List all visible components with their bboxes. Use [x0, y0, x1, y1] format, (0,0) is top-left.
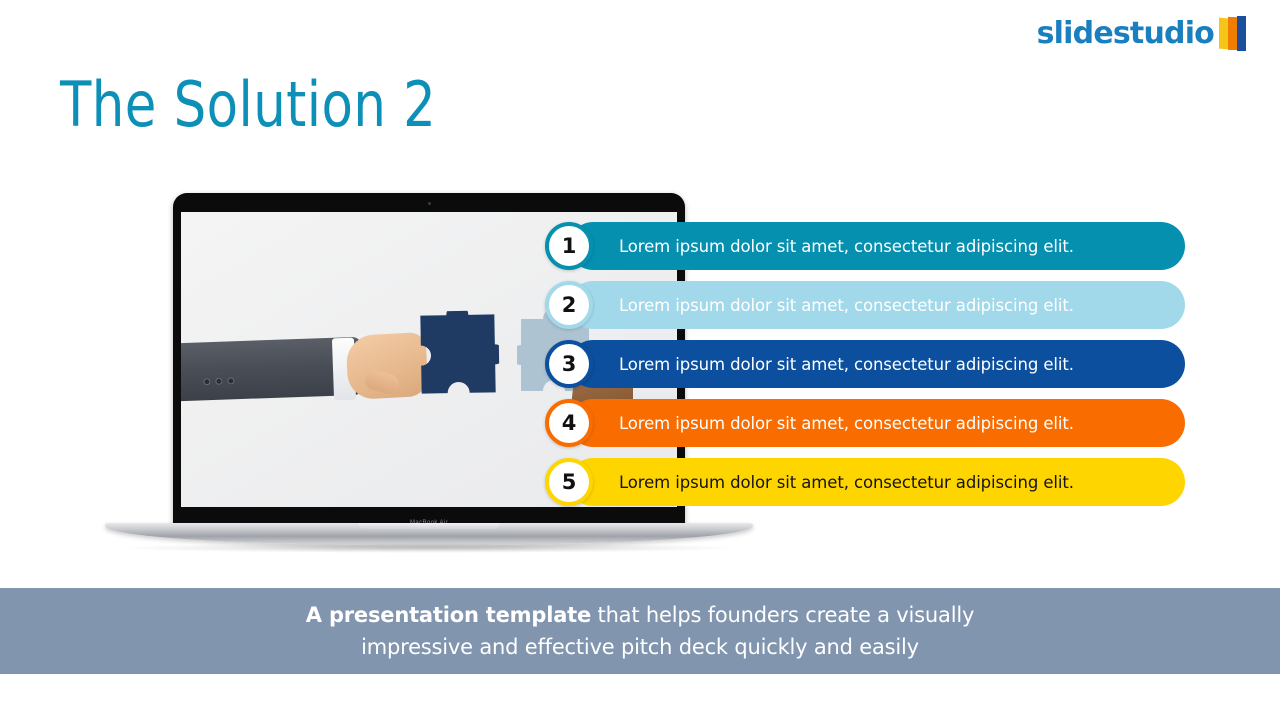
numbered-list: Lorem ipsum dolor sit amet, consectetur … — [545, 222, 1185, 517]
slide: slidestudio The Solution 2 — [0, 0, 1280, 720]
webcam-icon — [428, 202, 431, 205]
list-item-pill[interactable]: Lorem ipsum dolor sit amet, consectetur … — [569, 458, 1185, 506]
cuff-buttons-icon — [203, 377, 234, 385]
list-item-pill[interactable]: Lorem ipsum dolor sit amet, consectetur … — [569, 222, 1185, 270]
brand-logo[interactable]: slidestudio — [1037, 16, 1246, 52]
caption-bold-phrase: A presentation template — [306, 603, 591, 627]
list-item[interactable]: Lorem ipsum dolor sit amet, consectetur … — [545, 281, 1185, 329]
list-item-number: 2 — [545, 281, 593, 329]
puzzle-piece-navy-icon — [416, 310, 499, 397]
brand-name: slidestudio — [1037, 19, 1214, 49]
list-item[interactable]: Lorem ipsum dolor sit amet, consectetur … — [545, 399, 1185, 447]
list-item[interactable]: Lorem ipsum dolor sit amet, consectetur … — [545, 222, 1185, 270]
caption-line-1: A presentation template that helps found… — [306, 602, 974, 628]
list-item-number: 4 — [545, 399, 593, 447]
caption-band: A presentation template that helps found… — [0, 588, 1280, 674]
list-item-text: Lorem ipsum dolor sit amet, consectetur … — [619, 296, 1074, 315]
laptop-shadow — [115, 543, 743, 553]
laptop-base — [105, 523, 753, 545]
list-item-text: Lorem ipsum dolor sit amet, consectetur … — [619, 355, 1074, 374]
list-item-pill[interactable]: Lorem ipsum dolor sit amet, consectetur … — [569, 281, 1185, 329]
list-item-number: 5 — [545, 458, 593, 506]
list-item-text: Lorem ipsum dolor sit amet, consectetur … — [619, 237, 1074, 256]
caption-line-2: impressive and effective pitch deck quic… — [361, 634, 919, 660]
page-title: The Solution 2 — [60, 74, 436, 136]
list-item-text: Lorem ipsum dolor sit amet, consectetur … — [619, 414, 1074, 433]
list-item-pill[interactable]: Lorem ipsum dolor sit amet, consectetur … — [569, 399, 1185, 447]
laptop-base-notch — [359, 523, 499, 529]
list-item[interactable]: Lorem ipsum dolor sit amet, consectetur … — [545, 458, 1185, 506]
caption-rest-phrase: that helps founders create a visually — [591, 603, 974, 627]
list-item-pill[interactable]: Lorem ipsum dolor sit amet, consectetur … — [569, 340, 1185, 388]
list-item[interactable]: Lorem ipsum dolor sit amet, consectetur … — [545, 340, 1185, 388]
slidestudio-book-icon — [1219, 16, 1246, 52]
list-item-number: 3 — [545, 340, 593, 388]
list-item-text: Lorem ipsum dolor sit amet, consectetur … — [619, 473, 1074, 492]
list-item-number: 1 — [545, 222, 593, 270]
